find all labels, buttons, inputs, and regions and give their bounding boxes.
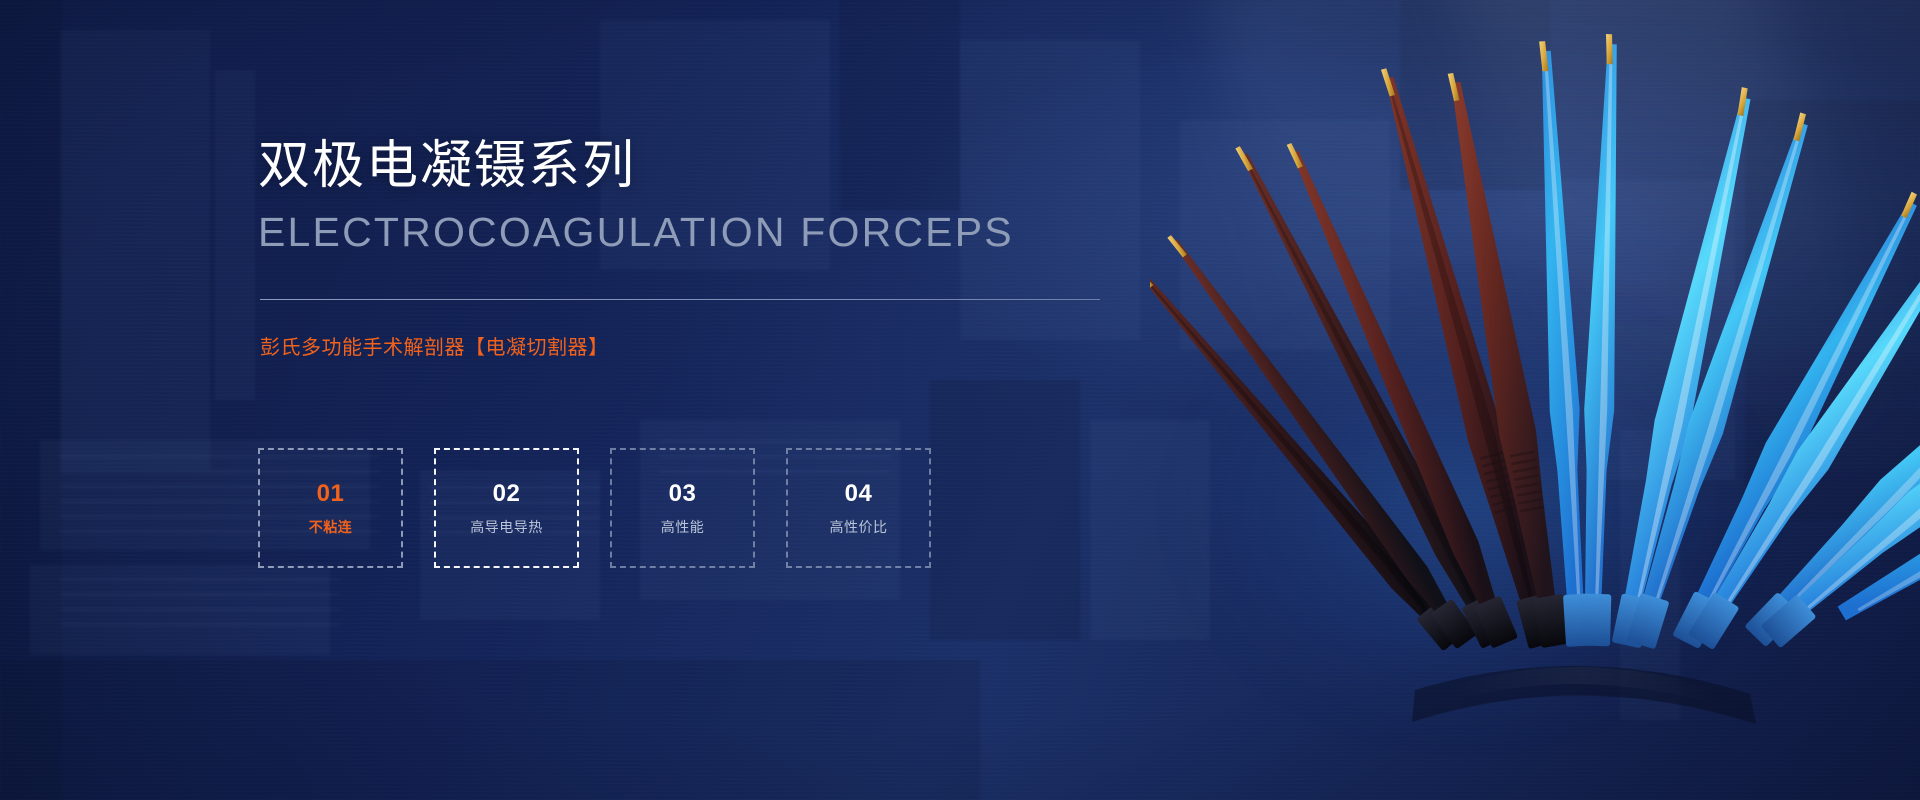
- feature-card-04[interactable]: 04 高性价比: [786, 448, 931, 568]
- feature-number: 03: [669, 482, 697, 506]
- feature-label: 高性价比: [830, 520, 888, 534]
- forceps-glow: [1190, 300, 1750, 720]
- feature-number: 04: [845, 482, 873, 506]
- page-subtitle-english: ELECTROCOAGULATION FORCEPS: [258, 212, 1014, 253]
- feature-card-03[interactable]: 03 高性能: [610, 448, 755, 568]
- feature-label: 不粘连: [309, 520, 353, 534]
- feature-list: 01 不粘连 02 高导电导热 03 高性能 04 高性价比: [258, 448, 931, 568]
- feature-label: 高导电导热: [470, 520, 543, 534]
- page-title: 双极电凝镊系列: [258, 140, 636, 192]
- feature-label: 高性能: [661, 520, 705, 534]
- feature-number: 02: [493, 482, 521, 506]
- title-divider: [260, 299, 1100, 300]
- feature-card-01[interactable]: 01 不粘连: [258, 448, 403, 568]
- feature-card-02[interactable]: 02 高导电导热: [434, 448, 579, 568]
- product-banner: 双极电凝镊系列 ELECTROCOAGULATION FORCEPS 彭氏多功能…: [0, 0, 1920, 800]
- feature-number: 01: [317, 482, 345, 506]
- banner-content: 双极电凝镊系列 ELECTROCOAGULATION FORCEPS 彭氏多功能…: [258, 0, 1138, 800]
- product-description: 彭氏多功能手术解剖器【电凝切割器】: [260, 338, 609, 358]
